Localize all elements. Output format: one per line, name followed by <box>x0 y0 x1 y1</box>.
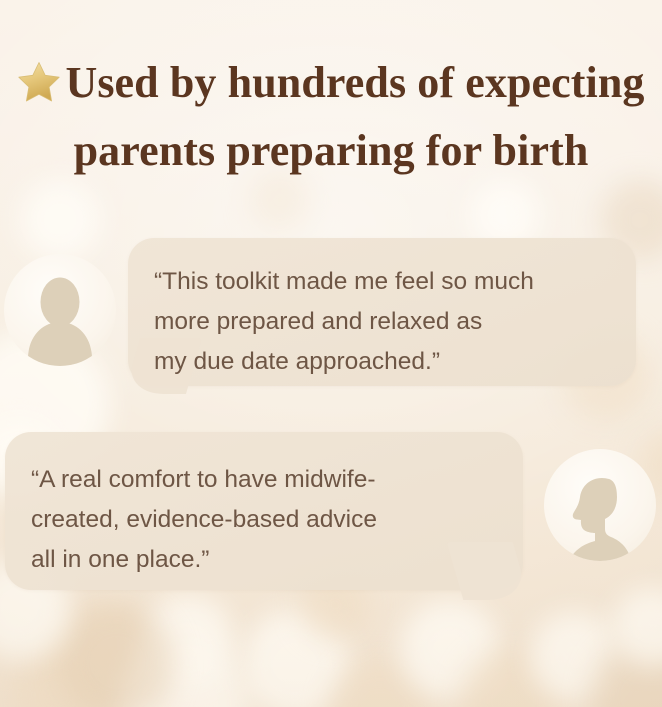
person-profile-avatar-icon <box>557 469 643 561</box>
page-title: Used by hundreds of expecting parents pr… <box>0 52 662 182</box>
page-title-line-1: Used by hundreds of expecting <box>65 58 644 107</box>
testimonial-bubble: “A real comfort to have midwife- created… <box>5 432 523 590</box>
page-title-line-2: parents preparing for birth <box>0 120 662 182</box>
person-front-avatar-icon <box>17 274 103 366</box>
testimonial-banner: Used by hundreds of expecting parents pr… <box>0 0 662 707</box>
testimonial-quote: “This toolkit made me feel so much more … <box>154 262 636 382</box>
testimonial-quote: “A real comfort to have midwife- created… <box>31 460 523 580</box>
testimonial-bubble: “This toolkit made me feel so much more … <box>128 238 636 386</box>
avatar <box>544 449 656 561</box>
star-icon <box>17 58 61 120</box>
avatar <box>4 254 116 366</box>
